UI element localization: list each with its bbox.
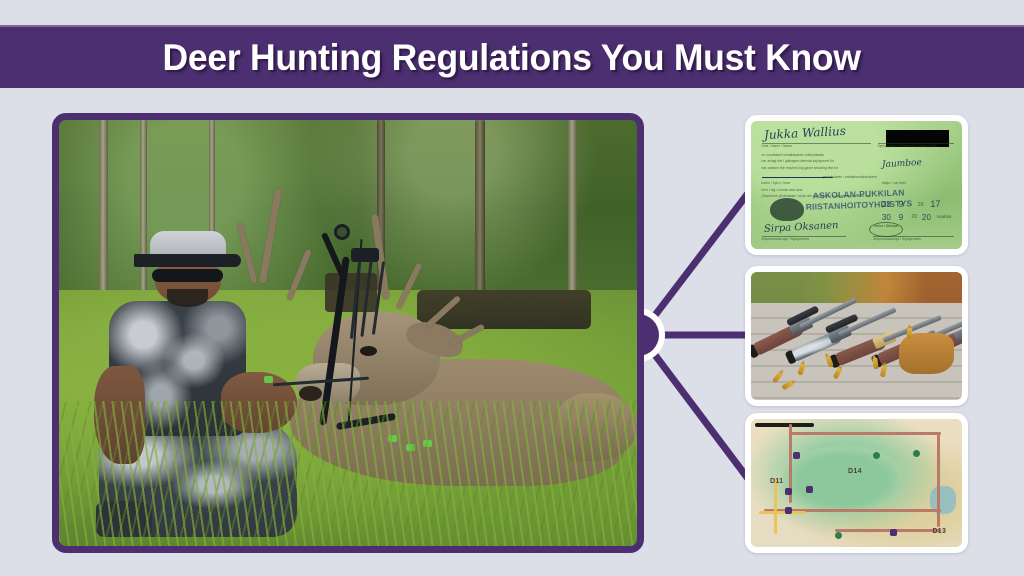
bow-cam-wheel	[334, 224, 350, 240]
map-state-boundary	[755, 423, 814, 427]
page-title: Deer Hunting Regulations You Must Know	[163, 37, 861, 79]
license-struck-line	[762, 177, 834, 178]
map-highway-top	[789, 432, 941, 435]
hero-photo-frame	[52, 113, 644, 553]
license-field-label-name: Nimi / Namn / Name	[762, 144, 793, 148]
license-date-month: 9	[899, 200, 904, 209]
foreground-grass	[59, 401, 637, 546]
license-body-line-3: has passed the required big game shootin…	[762, 166, 839, 170]
map-highway-east	[937, 432, 940, 527]
hunting-rifles-image	[751, 272, 962, 400]
slide-root: Deer Hunting Regulations You Must Know	[0, 0, 1024, 576]
hunting-rifles-card[interactable]	[745, 266, 968, 406]
license-body-line-1: on suorittanut metsästyslain edellyttämä…	[762, 153, 825, 157]
arrow-quiver	[351, 248, 379, 262]
license-witness-right-label: Ampumanvalvoja / Skjutprovets	[873, 237, 921, 241]
license-valid-until-month: 9	[899, 213, 904, 222]
license-body-line-2: har avlagt det i jaktlagen nämnda skjutp…	[762, 159, 835, 163]
license-witness-left-label: Ampumanvalvoja / Skjutprovets	[762, 237, 810, 241]
map-zone-label-d13: D13	[932, 528, 946, 535]
connector-line-to-map	[640, 335, 752, 484]
license-date-year: 17	[930, 199, 940, 209]
tree-trunk	[475, 120, 485, 316]
connector-line-to-license	[640, 188, 752, 335]
license-date-year-prefix: 20	[918, 202, 924, 208]
hunting-zone-map-card[interactable]: D11 D14 D13	[745, 413, 968, 553]
mule-deer-eye	[360, 346, 377, 356]
map-marker	[890, 529, 897, 536]
map-marker	[785, 507, 792, 514]
arrow-fletching	[264, 376, 273, 383]
license-field-label-birth: Syntymäaika / Födelsetid / Date of birth	[878, 144, 938, 148]
title-banner: Deer Hunting Regulations You Must Know	[0, 25, 1024, 88]
license-valid-until-year-prefix: 20	[911, 214, 917, 220]
cap-brim	[134, 254, 241, 267]
license-game-row-4: rådjur / roe deer	[882, 181, 906, 185]
rifle-cartridge	[907, 328, 913, 339]
leather-gloves	[899, 333, 954, 374]
map-marker	[793, 452, 800, 459]
map-marker	[785, 488, 792, 495]
hunting-zone-map-image: D11 D14 D13	[751, 419, 962, 547]
sunglasses-icon	[152, 269, 223, 282]
map-marker	[806, 486, 813, 493]
map-zone-label-d11: D11	[770, 478, 783, 485]
map-highway-lower	[835, 529, 941, 532]
map-secondary-road	[774, 478, 777, 534]
license-game-row-1: karhu / björn / bear	[762, 181, 791, 185]
hunting-license-image: Jukka Wallius Nimi / Namn / Name Syntymä…	[751, 121, 962, 249]
hunting-license-card[interactable]: Jukka Wallius Nimi / Namn / Name Syntymä…	[745, 115, 968, 255]
map-secondary-road	[759, 511, 805, 514]
map-zone-label-d14: D14	[848, 468, 862, 475]
hunter-with-harvested-mule-deer-photo	[59, 120, 637, 546]
license-valid-until-day: 30	[882, 213, 891, 222]
license-valid-until-year: 20	[922, 213, 931, 222]
license-valid-until-word: saakka	[937, 214, 952, 219]
license-date-day: 23	[882, 200, 891, 209]
